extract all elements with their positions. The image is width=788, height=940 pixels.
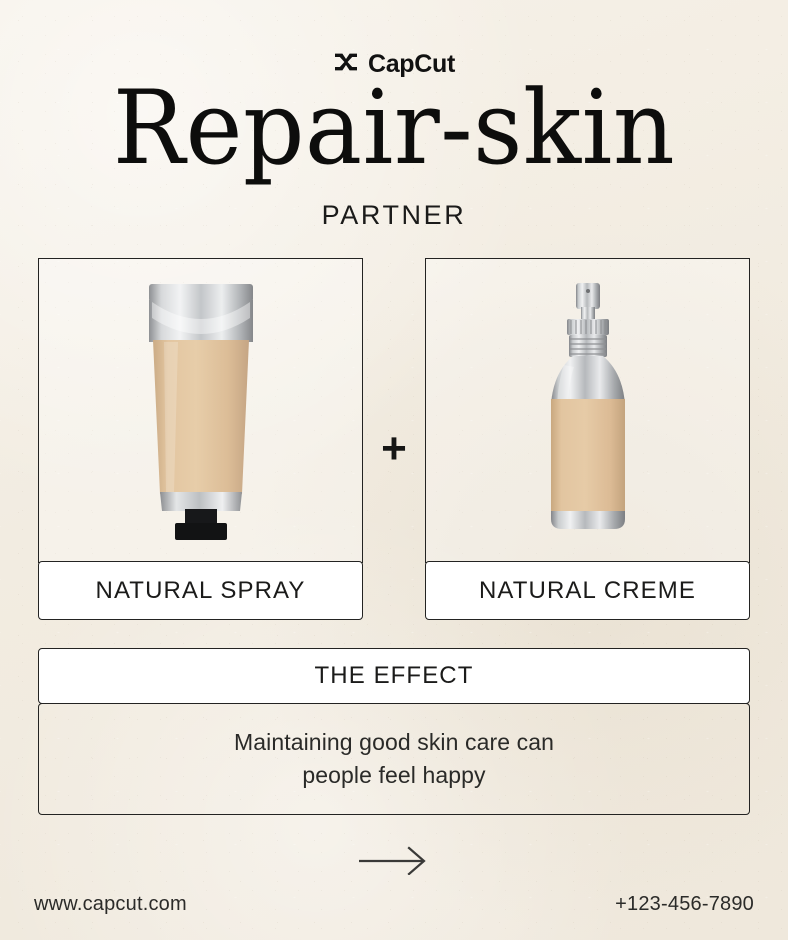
product-image-frame-2 [425,258,750,563]
plus-separator-icon: + [370,425,418,473]
effect-description-line-2: people feel happy [302,760,485,791]
product-image-frame-1 [38,258,363,563]
footer-phone[interactable]: +123-456-7890 [615,893,754,916]
page-subtitle: PARTNER [0,200,788,231]
product-card-1[interactable]: NATURAL SPRAY [38,258,363,620]
spray-bottle-icon [426,259,749,562]
product-card-2[interactable]: NATURAL CREME [425,258,750,620]
footer-website[interactable]: www.capcut.com [34,893,187,916]
product-label-2: NATURAL CREME [425,561,750,620]
poster-canvas: CapCut Repair-skin PARTNER [0,0,788,940]
cream-tube-icon [39,259,362,562]
effect-heading: THE EFFECT [38,648,750,704]
effect-description-box: Maintaining good skin care can people fe… [38,703,750,815]
arrow-right-icon [355,845,433,880]
page-title: Repair-skin [0,75,788,182]
product-label-1: NATURAL SPRAY [38,561,363,620]
effect-description-line-1: Maintaining good skin care can [234,727,554,758]
arrow-row [0,845,788,880]
